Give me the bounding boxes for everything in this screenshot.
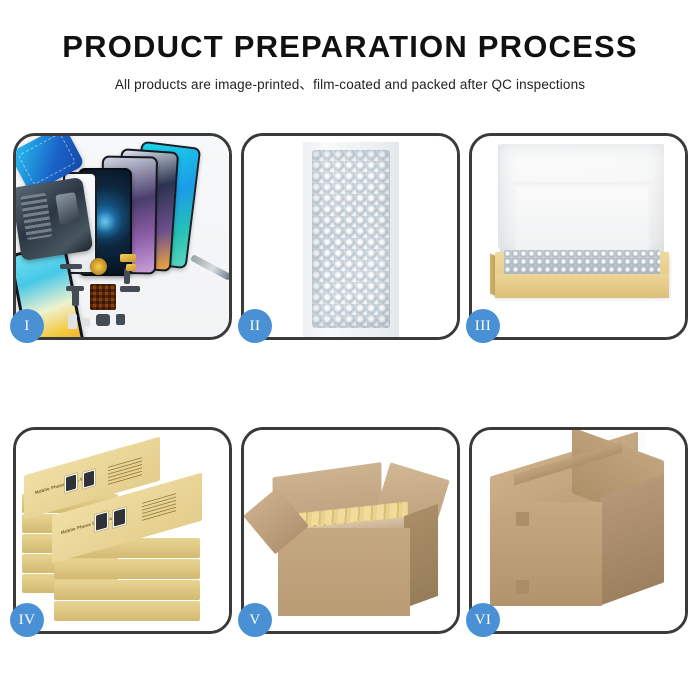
step-5-image — [244, 430, 457, 631]
copper-coil-part — [90, 258, 107, 275]
stacked-box-front-2 — [54, 559, 200, 579]
step-badge-3: III — [466, 309, 500, 343]
gold-contact-part — [120, 254, 136, 262]
product-preparation-infographic: PRODUCT PREPARATION PROCESS All products… — [0, 0, 700, 700]
step-1-image — [16, 136, 229, 337]
speaker-part — [96, 314, 110, 326]
step-6-image — [472, 430, 685, 631]
stacked-box-front-4 — [54, 601, 200, 621]
carton-tape-tab-bottom — [516, 580, 529, 594]
vibrator-part — [116, 314, 125, 325]
step-4-image: Mobile Phone Spare Parts Mobile Phone Sp… — [16, 430, 229, 631]
kraft-tray-front — [495, 274, 669, 298]
step-badge-4: IV — [10, 603, 44, 637]
box-lid-inner — [513, 182, 651, 254]
gold-clip-part — [126, 264, 136, 271]
sealed-carton-right-face — [600, 474, 664, 605]
step-badge-2: II — [238, 309, 272, 343]
page-title: PRODUCT PREPARATION PROCESS — [0, 30, 700, 64]
step-3-image — [472, 136, 685, 337]
ribbon-part — [66, 286, 84, 291]
carton-front — [278, 528, 410, 616]
sim-tray-part — [68, 314, 77, 329]
step-2-image — [244, 136, 457, 337]
kraft-box-stack: Mobile Phone Spare Parts Mobile Phone Sp… — [22, 442, 229, 631]
process-step-3: III — [469, 133, 688, 340]
process-step-6: VI — [469, 427, 688, 634]
step-badge-6: VI — [466, 603, 500, 637]
process-step-5: V — [241, 427, 460, 634]
step-badge-1: I — [10, 309, 44, 343]
phone-back-housing — [16, 177, 93, 261]
sealed-carton-front-face — [490, 502, 602, 606]
carton-tape-tab-top — [516, 512, 529, 526]
page-subtitle: All products are image-printed、film-coat… — [0, 73, 700, 93]
screwdriver-tool — [190, 254, 229, 281]
process-step-grid: I II III — [13, 133, 687, 633]
process-step-4: Mobile Phone Spare Parts Mobile Phone Sp… — [13, 427, 232, 634]
process-step-1: I — [13, 133, 232, 340]
step-badge-5: V — [238, 603, 272, 637]
stacked-box-front-3 — [54, 580, 200, 600]
bubble-wrap-texture — [312, 150, 390, 328]
header: PRODUCT PREPARATION PROCESS All products… — [0, 0, 700, 93]
flex-cable-part — [60, 264, 82, 269]
chip-grid-part — [90, 284, 116, 310]
process-step-2: II — [241, 133, 460, 340]
white-bracket-part — [82, 318, 90, 327]
camera-flex-part — [120, 286, 140, 292]
